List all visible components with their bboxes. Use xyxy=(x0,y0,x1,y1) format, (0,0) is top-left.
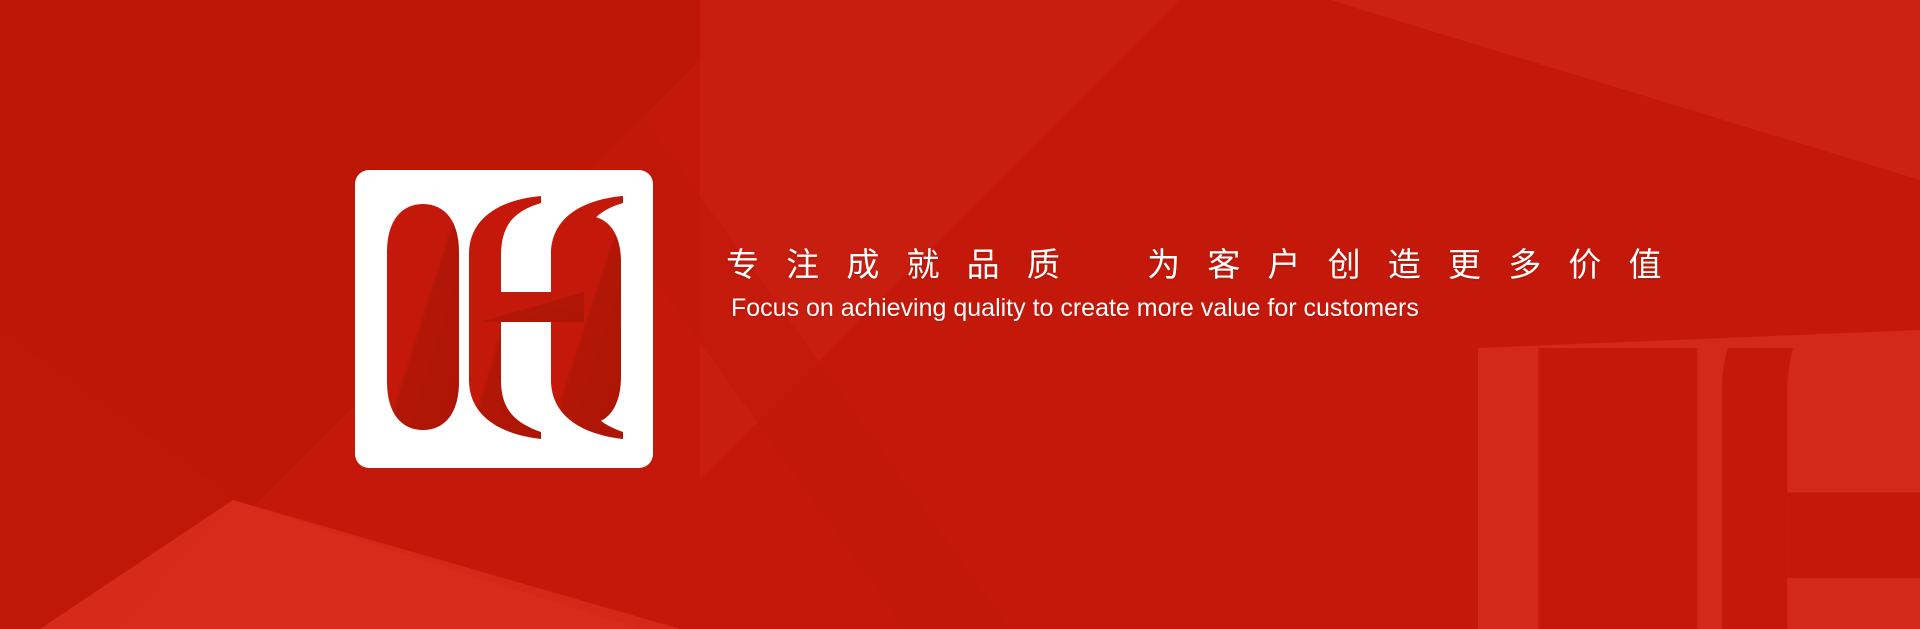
slogan-chinese: 专 注 成 就 品 质 为 客 户 创 造 更 多 价 值 xyxy=(726,244,1726,286)
company-logo xyxy=(355,170,653,468)
slogan-english: Focus on achieving quality to create mor… xyxy=(726,292,1501,325)
watermark-field xyxy=(1478,348,1920,629)
slogan-block: 专 注 成 就 品 质 为 客 户 创 造 更 多 价 值 Focus on a… xyxy=(726,244,1726,325)
hero-banner: 专 注 成 就 品 质 为 客 户 创 造 更 多 价 值 Focus on a… xyxy=(0,0,1920,629)
